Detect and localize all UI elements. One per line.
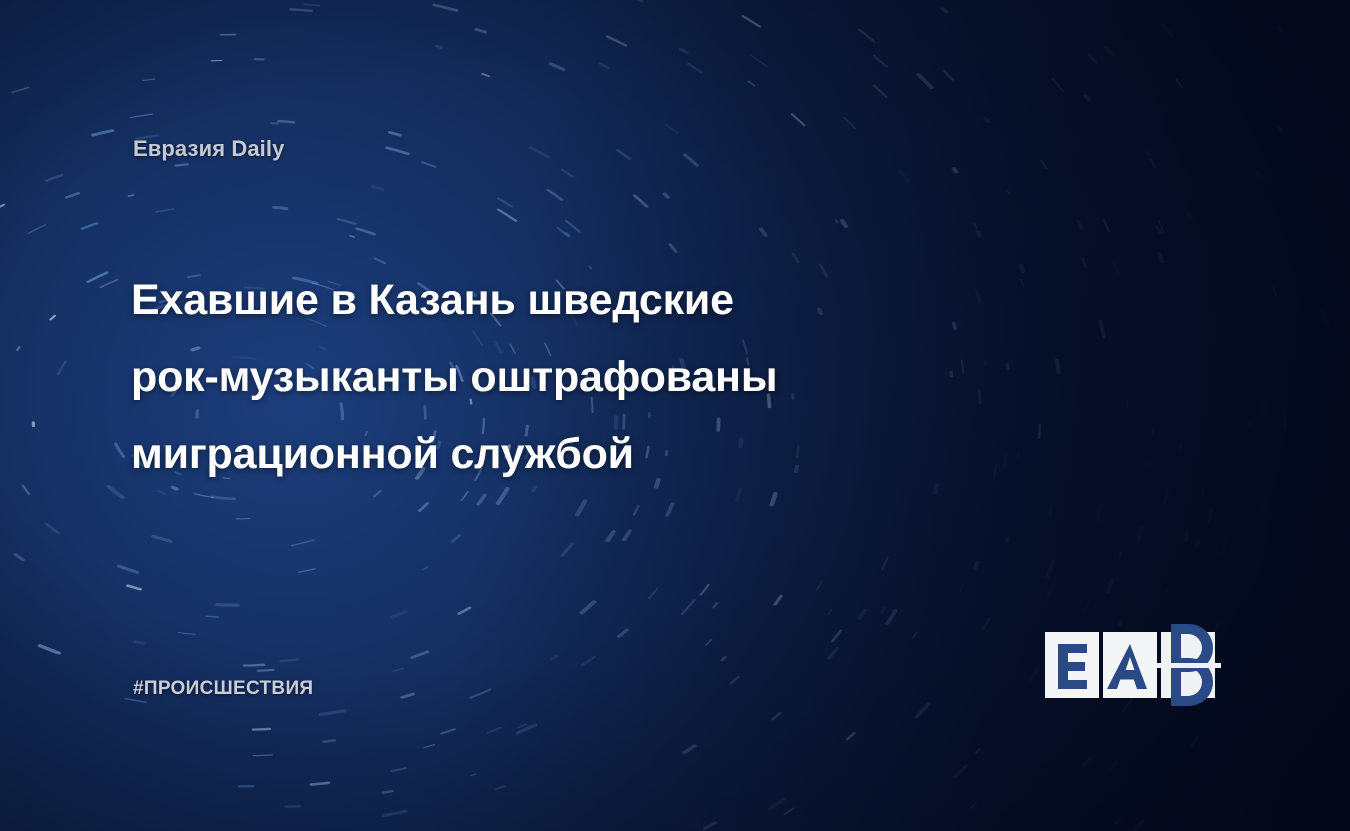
eadaily-logo[interactable] — [1045, 632, 1221, 698]
news-card: Евразия Daily Ехавшие в Казань шведские … — [0, 0, 1350, 831]
headline-line-3: миграционной службой — [131, 416, 1011, 493]
brand-label: Евразия Daily — [133, 136, 284, 162]
headline: Ехавшие в Казань шведские рок-музыканты … — [131, 262, 1011, 493]
headline-line-1: Ехавшие в Казань шведские — [131, 262, 1011, 339]
headline-line-2: рок-музыканты оштрафованы — [131, 339, 1011, 416]
category-hashtag[interactable]: #ПРОИСШЕСТВИЯ — [133, 678, 313, 700]
logo-letter-e — [1058, 644, 1087, 689]
